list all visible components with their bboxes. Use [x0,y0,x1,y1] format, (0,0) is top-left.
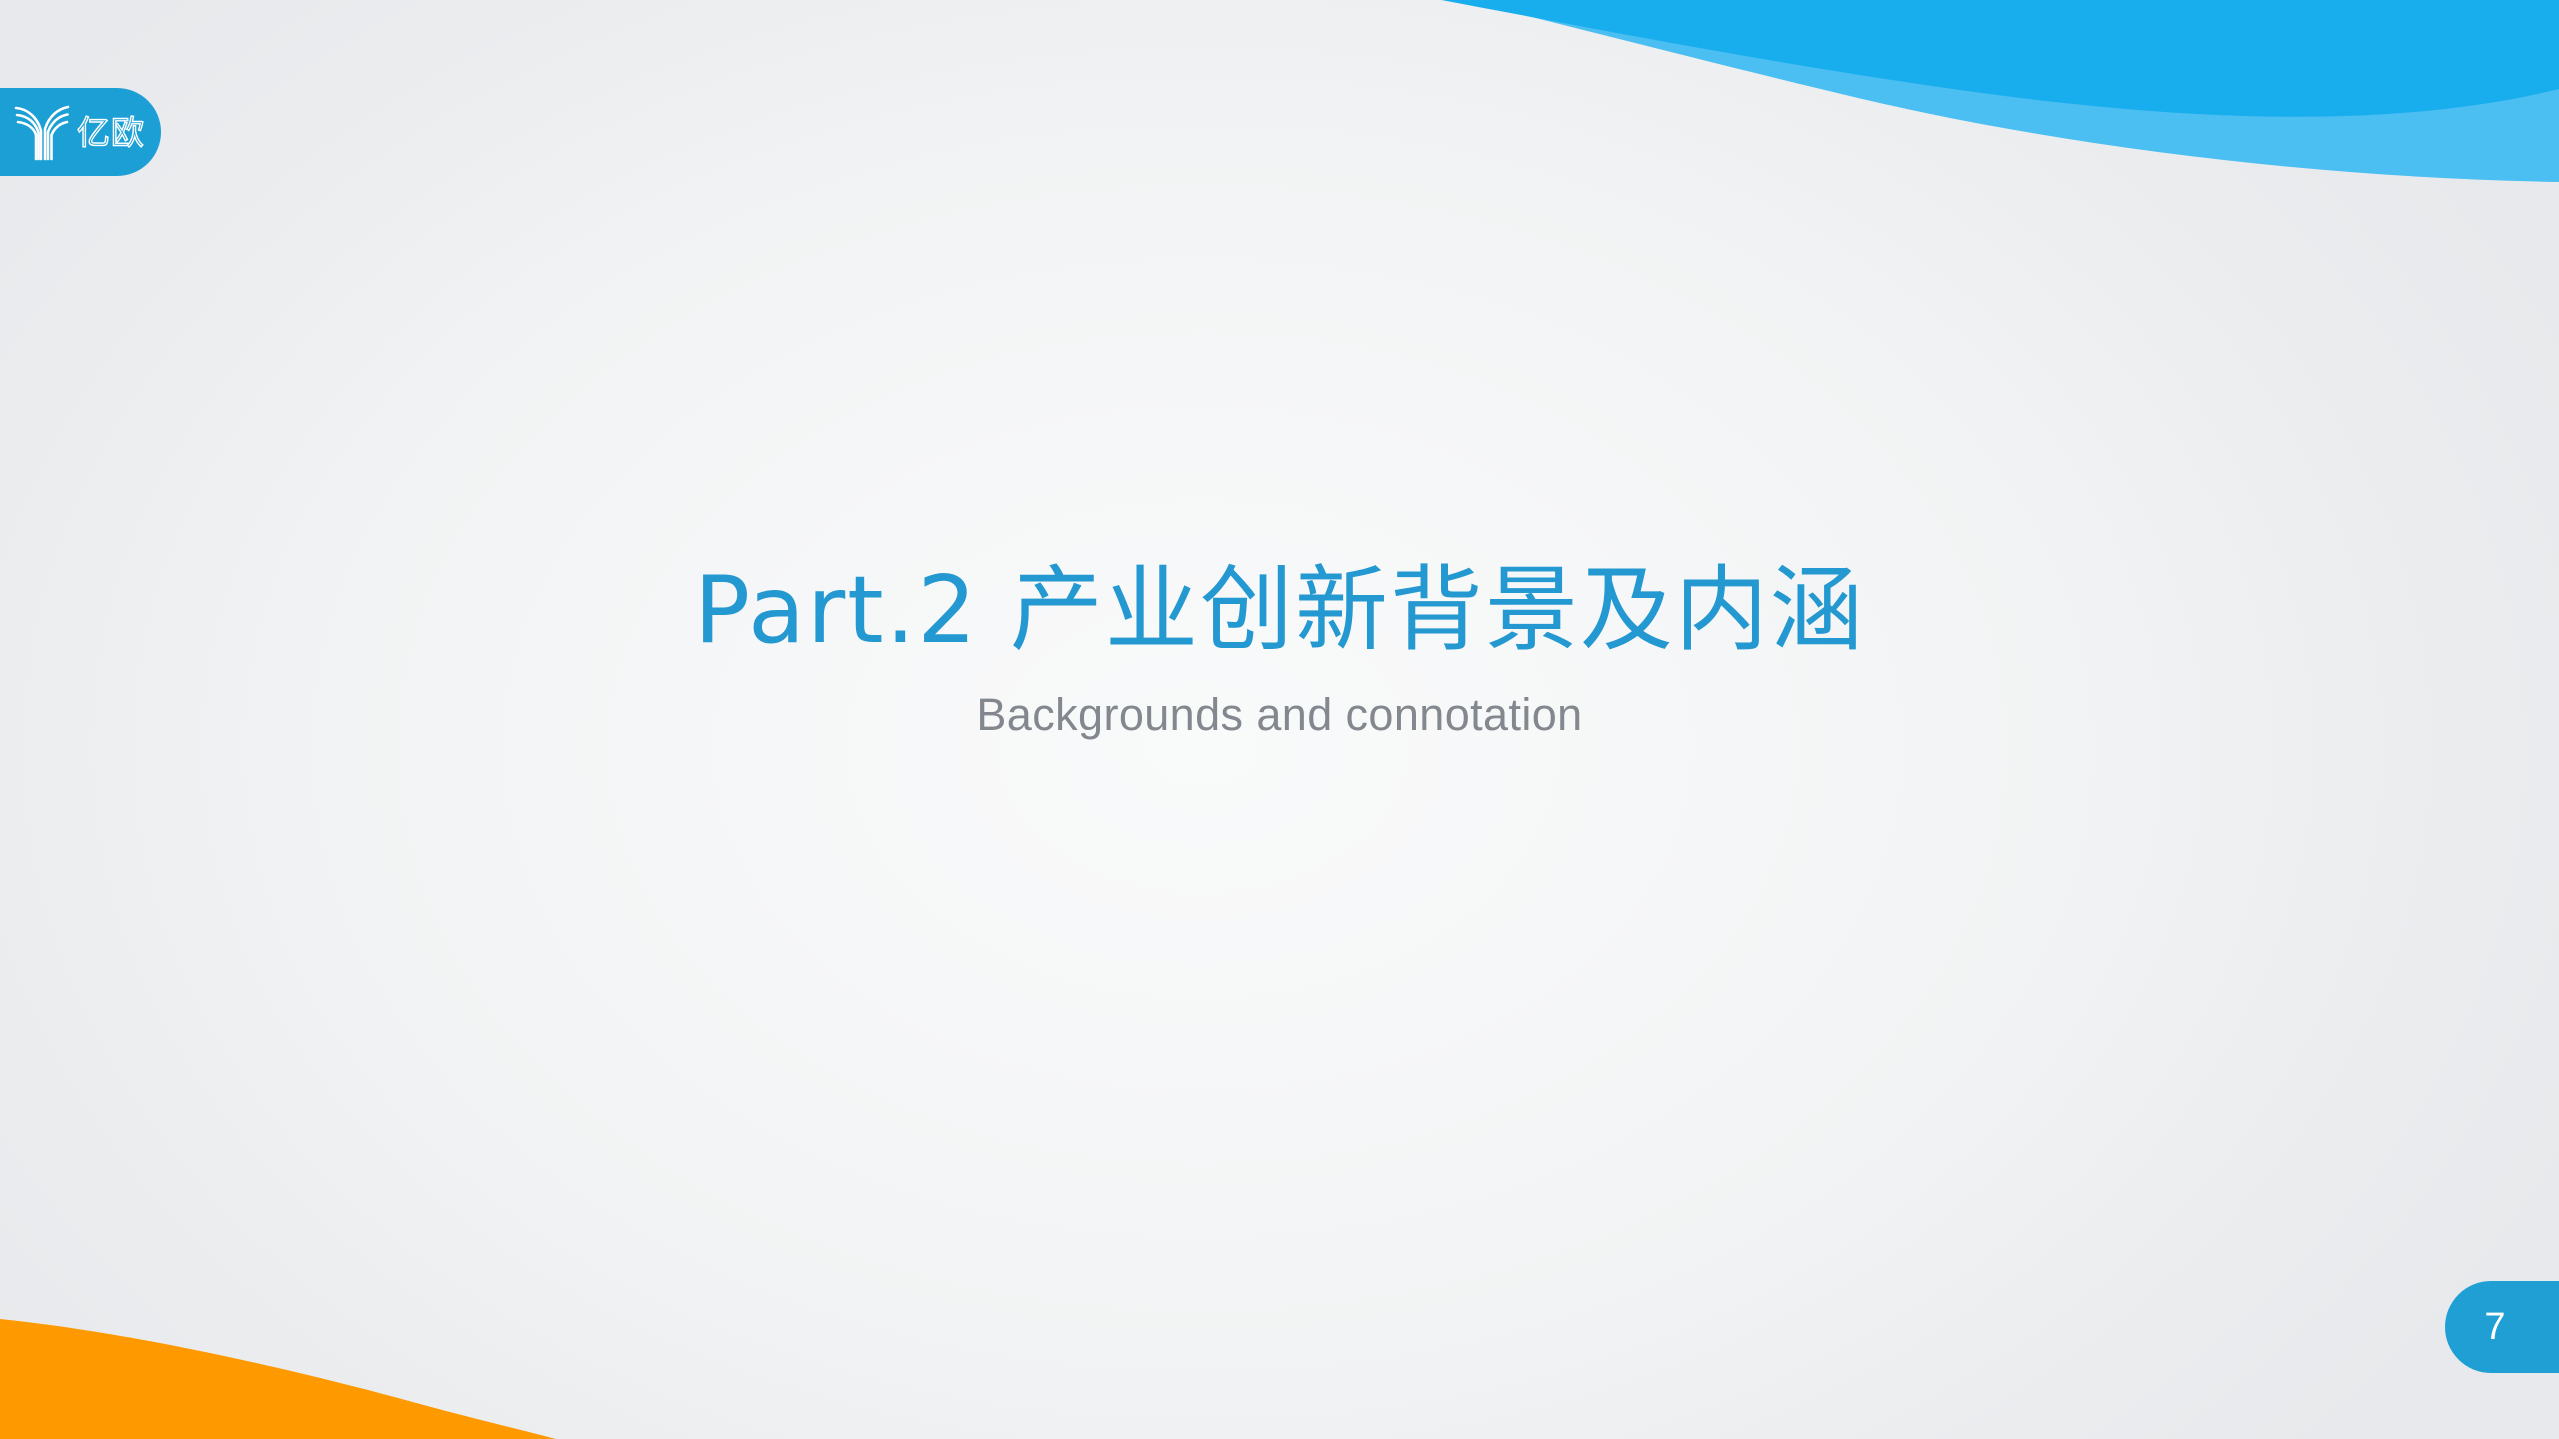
slide-subtitle: Backgrounds and connotation [0,666,2559,742]
yiou-logo-mark-icon [14,102,70,162]
page-number-badge: 7 [2445,1281,2559,1373]
top-right-wave-dark-shape [1388,0,2559,117]
yiou-wordmark-text: 亿欧 [77,113,145,152]
slide-canvas: 亿欧 Part.2 产业创新背景及内涵 Backgrounds and conn… [0,0,2559,1439]
title-block: Part.2 产业创新背景及内涵 Backgrounds and connota… [0,556,2559,742]
top-right-wave-light-shape [1420,0,2559,182]
yiou-logo-badge: 亿欧 [0,88,161,176]
page-number: 7 [2484,1308,2505,1346]
slide-title: Part.2 产业创新背景及内涵 [0,556,2559,666]
bottom-left-wave-orange-shape [0,1318,592,1439]
yiou-wordmark: 亿欧 [77,110,151,154]
